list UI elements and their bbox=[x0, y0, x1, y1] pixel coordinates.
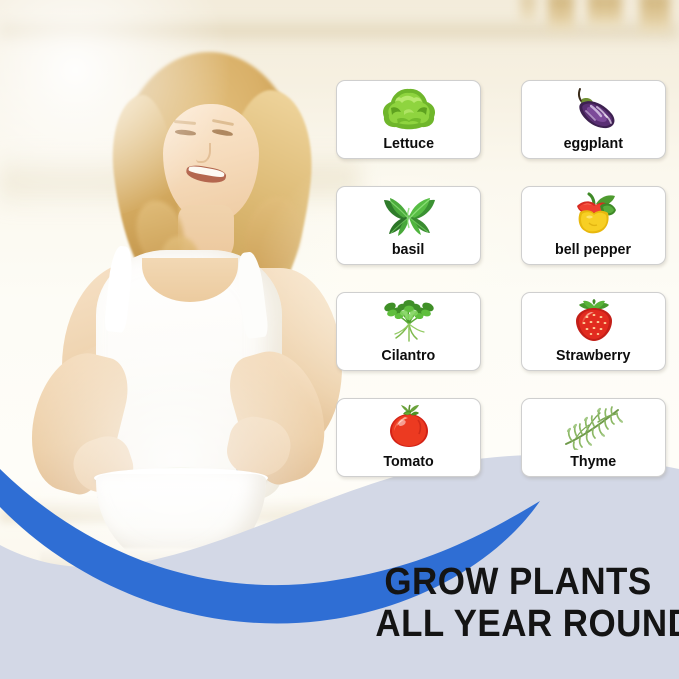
plant-card-label: Lettuce bbox=[383, 135, 434, 152]
basil-icon bbox=[337, 191, 480, 239]
thyme-icon bbox=[522, 403, 665, 451]
bell-pepper-icon bbox=[522, 191, 665, 239]
plant-card-label: bell pepper bbox=[555, 241, 631, 258]
cilantro-icon bbox=[337, 297, 480, 345]
plant-card-label: Strawberry bbox=[556, 347, 630, 364]
plant-card-lettuce[interactable]: Lettuce bbox=[336, 80, 481, 159]
kitchen-jar-icon bbox=[588, 0, 622, 26]
banner-headline: GROW PLANTS ALL YEAR ROUND bbox=[375, 561, 660, 645]
kitchen-jar-icon bbox=[640, 0, 670, 32]
kitchen-jar-icon bbox=[520, 0, 536, 22]
plant-card-label: basil bbox=[392, 241, 424, 258]
plant-card-basil[interactable]: basil bbox=[336, 186, 481, 265]
plant-card-thyme[interactable]: Thyme bbox=[521, 398, 666, 477]
banner-line-2: ALL YEAR ROUND bbox=[375, 603, 660, 645]
plant-card-strawberry[interactable]: Strawberry bbox=[521, 292, 666, 371]
plant-card-grid: Lettuce bbox=[336, 80, 666, 477]
plant-card-label: Cilantro bbox=[382, 347, 436, 364]
plant-card-tomato[interactable]: Tomato bbox=[336, 398, 481, 477]
plant-card-bell-pepper[interactable]: bell pepper bbox=[521, 186, 666, 265]
plant-card-label: eggplant bbox=[564, 135, 623, 152]
strawberry-icon bbox=[522, 297, 665, 345]
eggplant-icon bbox=[522, 85, 665, 133]
tomato-icon bbox=[337, 403, 480, 451]
kitchen-jar-icon bbox=[548, 0, 574, 30]
plant-card-label: Thyme bbox=[571, 453, 617, 470]
plant-card-label: Tomato bbox=[383, 453, 433, 470]
lettuce-icon bbox=[337, 85, 480, 133]
plant-card-cilantro[interactable]: Cilantro bbox=[336, 292, 481, 371]
poster: GROW PLANTS ALL YEAR ROUND bbox=[0, 0, 679, 679]
plant-card-eggplant[interactable]: eggplant bbox=[521, 80, 666, 159]
banner-line-1: GROW PLANTS bbox=[375, 561, 660, 603]
